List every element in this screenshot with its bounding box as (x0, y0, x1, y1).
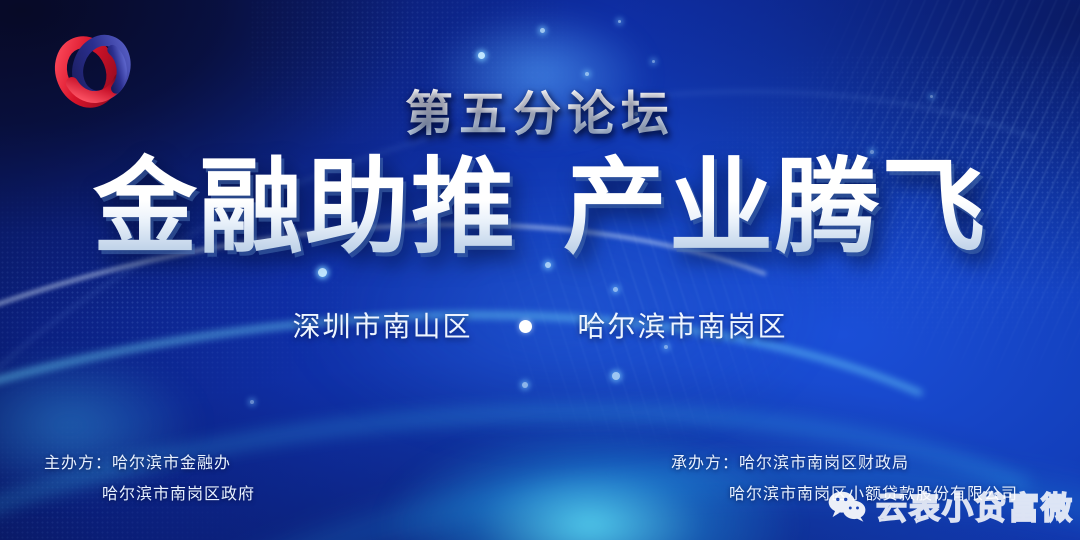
page-title: 金融助推产业腾飞 (0, 150, 1080, 266)
city-left-label: 深圳市南山区 (292, 311, 472, 342)
particle-dot (478, 52, 485, 59)
particle-dot (618, 20, 621, 23)
city-right-label: 哈尔滨市南岗区 (578, 311, 788, 342)
particle-dot (612, 372, 620, 380)
co-organizer-line-2: 哈尔滨市南岗区小额贷款股份有限公司 (671, 479, 1018, 510)
headline-part-1: 金融助推 (93, 150, 517, 266)
organizer-line-1: 主办方：哈尔滨市金融办 (44, 448, 255, 479)
particle-dot (250, 400, 254, 404)
organizer-line-2: 哈尔滨市南岗区政府 (44, 479, 255, 510)
particle-dot (664, 345, 668, 349)
co-organizer-block: 承办方：哈尔滨市南岗区财政局 哈尔滨市南岗区小额贷款股份有限公司 (671, 448, 1018, 510)
organizer-block: 主办方：哈尔滨市金融办 哈尔滨市南岗区政府 (44, 448, 255, 510)
particle-dot (318, 268, 327, 277)
poster-canvas: 第五分论坛 金融助推产业腾飞 深圳市南山区哈尔滨市南岗区 主办方：哈尔滨市金融办… (0, 0, 1080, 540)
subforum-label: 第五分论坛 (0, 74, 1080, 144)
bullet-dot-icon (519, 320, 532, 333)
particle-dot (652, 60, 655, 63)
particle-dot (540, 28, 545, 33)
co-organizer-line-1: 承办方：哈尔滨市南岗区财政局 (671, 448, 1018, 479)
cities-line: 深圳市南山区哈尔滨市南岗区 (0, 305, 1080, 345)
particle-dot (522, 382, 528, 388)
headline-part-2: 产业腾飞 (563, 150, 987, 266)
particle-dot (613, 287, 618, 292)
